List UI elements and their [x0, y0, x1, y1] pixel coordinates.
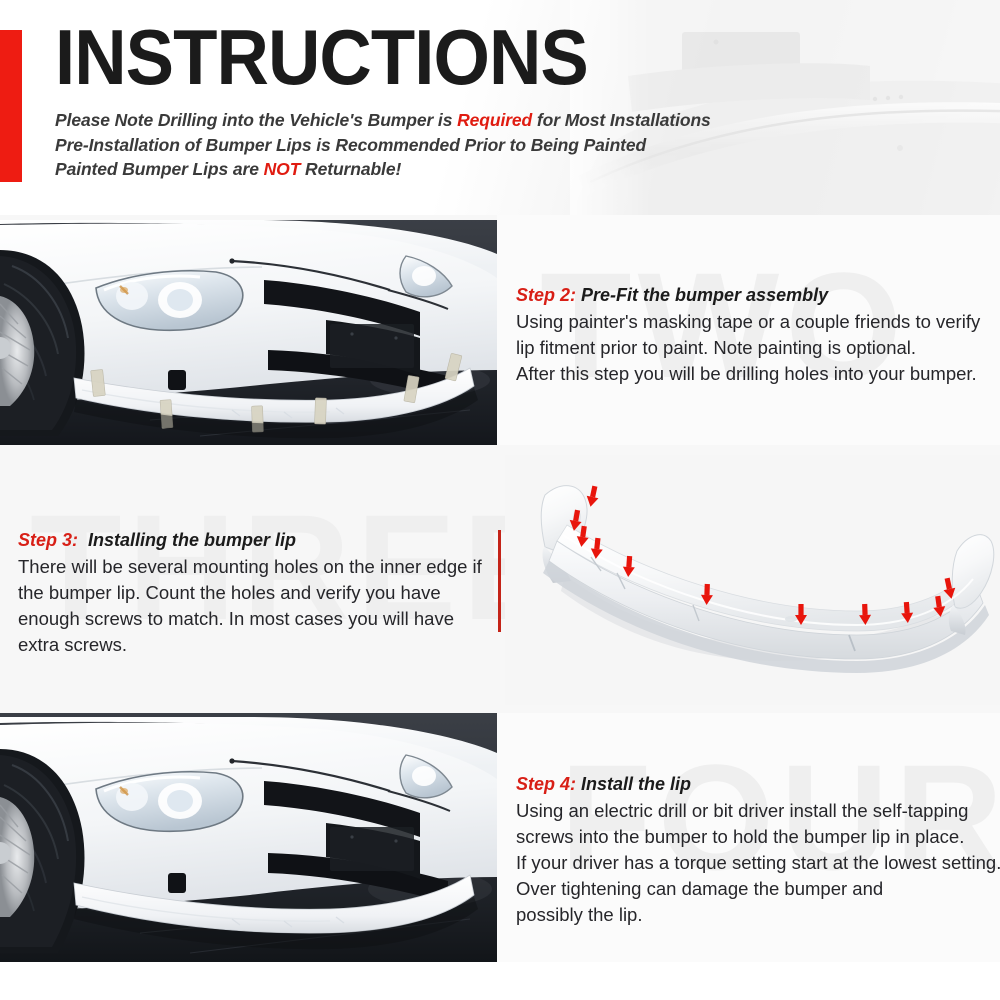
- note-3-pre: Painted Bumper Lips are: [55, 159, 264, 179]
- step-4-line-1: Using an electric drill or bit driver in…: [516, 798, 996, 824]
- header-note-2: Pre-Installation of Bumper Lips is Recom…: [55, 133, 935, 158]
- note-3-emphasis: NOT: [264, 159, 301, 179]
- header-accent-bar: [0, 30, 22, 182]
- note-1-pre: Please Note Drilling into the Vehicle's …: [55, 110, 457, 130]
- step-2-line-3: After this step you will be drilling hol…: [516, 361, 994, 387]
- step-4-body: Using an electric drill or bit driver in…: [516, 798, 996, 928]
- white-civic-front-bumper-lip-installed: [0, 713, 497, 962]
- step-3-title: Installing the bumper lip: [88, 530, 296, 550]
- step-2-title: Pre-Fit the bumper assembly: [581, 285, 828, 305]
- step-3-line-4: extra screws.: [18, 632, 488, 658]
- step-4-title: Install the lip: [581, 774, 691, 794]
- header-notes: Please Note Drilling into the Vehicle's …: [55, 108, 935, 182]
- step-4-line-3: If your driver has a torque setting star…: [516, 850, 996, 876]
- step-2-line-1: Using painter's masking tape or a couple…: [516, 309, 994, 335]
- white-bumper-lip-spoiler-with-mounting-arrows: [505, 455, 1000, 705]
- header-note-1: Please Note Drilling into the Vehicle's …: [55, 108, 935, 133]
- step-2-heading: Step 2: Pre-Fit the bumper assembly: [516, 283, 994, 308]
- step-3-number: Step 3:: [18, 530, 78, 550]
- step-3-heading: Step 3: Installing the bumper lip: [18, 528, 488, 553]
- instructions-sheet: TWO THREE FOUR: [0, 0, 1000, 1000]
- step-4-block: Step 4: Install the lip Using an electri…: [516, 772, 996, 928]
- step-2-body: Using painter's masking tape or a couple…: [516, 309, 994, 387]
- step-4-line-5: possibly the lip.: [516, 902, 996, 928]
- step-3-body: There will be several mounting holes on …: [18, 554, 488, 658]
- header: INSTRUCTIONS Please Note Drilling into t…: [0, 0, 1000, 215]
- note-1-post: for Most Installations: [532, 110, 711, 130]
- page-title: INSTRUCTIONS: [55, 18, 588, 96]
- step-3-line-2: the bumper lip. Count the holes and veri…: [18, 580, 488, 606]
- step-4-line-2: screws into the bumper to hold the bumpe…: [516, 824, 996, 850]
- step-3-divider: [498, 530, 501, 632]
- step-3-line-3: enough screws to match. In most cases yo…: [18, 606, 488, 632]
- footer-whitespace: [0, 962, 1000, 1000]
- step-2-number: Step 2:: [516, 285, 576, 305]
- photo-prefit-taped: [0, 220, 497, 445]
- photo-installed: [0, 713, 497, 962]
- note-1-emphasis: Required: [457, 110, 532, 130]
- step-3-block: Step 3: Installing the bumper lip There …: [18, 528, 488, 658]
- note-3-post: Returnable!: [300, 159, 401, 179]
- step-2-line-2: lip fitment prior to paint. Note paintin…: [516, 335, 994, 361]
- step-3-line-1: There will be several mounting holes on …: [18, 554, 488, 580]
- note-2-pre: Pre-Installation of Bumper Lips is Recom…: [55, 135, 646, 155]
- step-4-line-4: Over tightening can damage the bumper an…: [516, 876, 996, 902]
- step-2-block: Step 2: Pre-Fit the bumper assembly Usin…: [516, 283, 994, 387]
- bumper-lip-product-image: [505, 455, 1000, 705]
- step-4-heading: Step 4: Install the lip: [516, 772, 996, 797]
- header-note-3: Painted Bumper Lips are NOT Returnable!: [55, 157, 935, 182]
- white-civic-front-bumper-lip-taped: [0, 220, 497, 445]
- step-4-number: Step 4:: [516, 774, 576, 794]
